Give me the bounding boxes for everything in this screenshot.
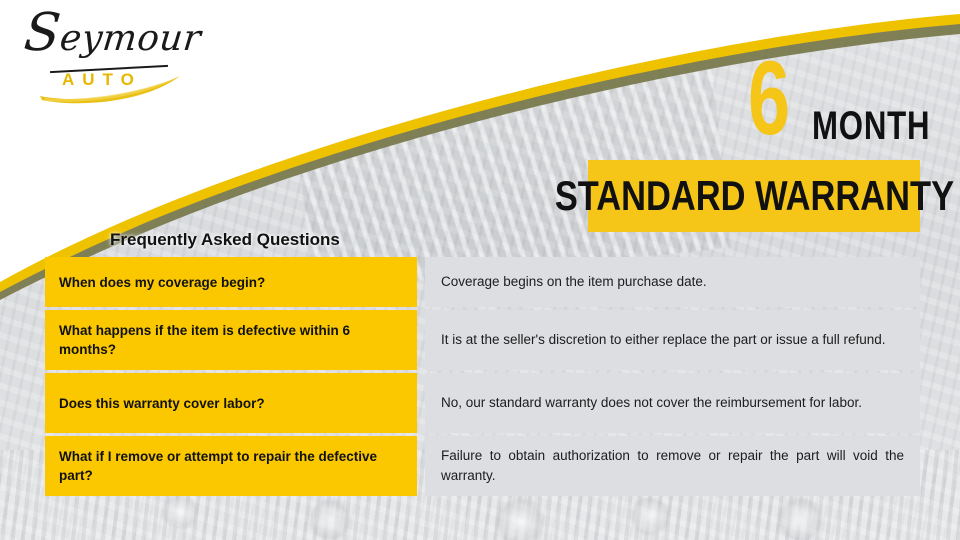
logo-wordmark: Seymour [22,18,203,59]
faq-answer-cell: Coverage begins on the item purchase dat… [425,257,920,307]
table-row: Does this warranty cover labor? No, our … [45,373,920,433]
warranty-duration-number: 6 [748,46,789,151]
faq-question-cell: When does my coverage begin? [45,257,417,307]
faq-question-cell: Does this warranty cover labor? [45,373,417,433]
faq-answer-cell: It is at the seller's discretion to eith… [425,310,920,370]
standard-warranty-banner-text: STANDARD WARRANTY [554,175,953,217]
faq-question-cell: What happens if the item is defective wi… [45,310,417,370]
cell-gap [417,373,425,433]
logo-auto-text: AUTO [62,70,142,90]
faq-answer-cell: No, our standard warranty does not cover… [425,373,920,433]
cell-gap [417,436,425,496]
seymour-auto-logo: Seymour AUTO [18,14,208,106]
warranty-slide: Seymour AUTO 6 MONTH STANDARD WARRANTY F… [0,0,960,540]
faq-question-cell: What if I remove or attempt to repair th… [45,436,417,496]
logo-wordmark-rest: eymour [58,18,203,59]
table-row: When does my coverage begin? Coverage be… [45,257,920,307]
faq-answer-cell: Failure to obtain authorization to remov… [425,436,920,496]
warranty-duration-unit: MONTH [812,106,930,146]
cell-gap [417,257,425,307]
table-row: What if I remove or attempt to repair th… [45,436,920,496]
cell-gap [417,310,425,370]
table-row: What happens if the item is defective wi… [45,310,920,370]
faq-section-title: Frequently Asked Questions [110,230,340,250]
faq-table: When does my coverage begin? Coverage be… [45,257,920,499]
standard-warranty-banner: STANDARD WARRANTY [588,160,920,232]
